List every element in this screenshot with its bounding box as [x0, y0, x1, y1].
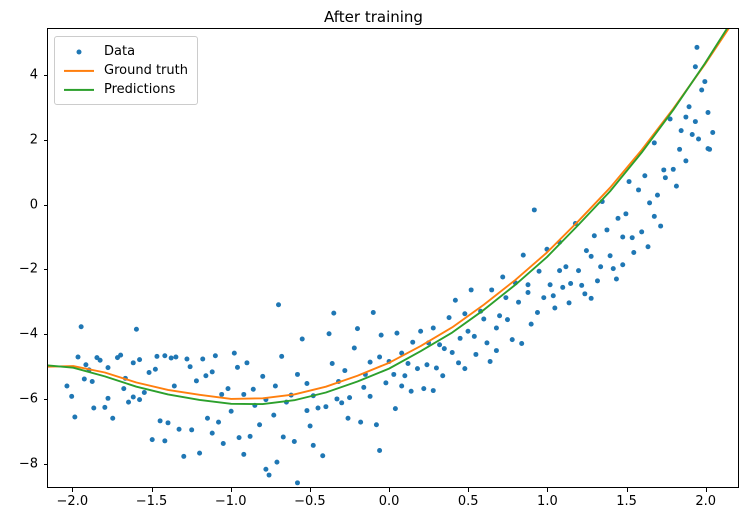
y-tick-label: 0: [30, 197, 38, 212]
data-point: [434, 365, 439, 370]
data-point: [316, 405, 321, 410]
data-point: [687, 104, 692, 109]
data-point: [620, 235, 625, 240]
data-point: [529, 322, 534, 327]
data-point: [334, 396, 339, 401]
data-point: [331, 311, 336, 316]
data-point: [683, 158, 688, 163]
data-point: [450, 350, 455, 355]
x-axis-tick-labels: −2.0−1.5−1.0−0.50.00.51.01.52.0: [0, 494, 747, 518]
data-point: [431, 388, 436, 393]
legend-entry-predictions: Predictions: [62, 80, 188, 99]
x-tick-label: 1.0: [537, 494, 558, 509]
data-point: [484, 340, 489, 345]
legend-marker-icon: [62, 45, 96, 59]
data-point: [169, 355, 174, 360]
data-point: [442, 346, 447, 351]
data-point: [327, 331, 332, 336]
data-point: [431, 326, 436, 331]
data-point: [368, 360, 373, 365]
data-point: [172, 384, 177, 389]
x-tick-label: 2.0: [695, 494, 716, 509]
data-point: [421, 386, 426, 391]
data-point: [98, 358, 103, 363]
data-point: [91, 405, 96, 410]
data-point: [579, 283, 584, 288]
data-point: [342, 368, 347, 373]
data-point: [456, 360, 461, 365]
data-point: [647, 200, 652, 205]
data-point: [541, 295, 546, 300]
data-point: [415, 366, 420, 371]
data-point: [560, 285, 565, 290]
data-point: [181, 454, 186, 459]
data-point: [205, 416, 210, 421]
data-point: [355, 326, 360, 331]
data-point: [589, 296, 594, 301]
data-point: [535, 310, 540, 315]
data-point: [377, 355, 382, 360]
legend-entry-ground-truth: Ground truth: [62, 61, 188, 80]
data-point: [589, 254, 594, 259]
data-point: [232, 351, 237, 356]
y-tick-label: −2: [19, 262, 38, 277]
data-point: [79, 324, 84, 329]
data-point: [361, 385, 366, 390]
data-point: [406, 361, 411, 366]
data-point: [699, 87, 704, 92]
data-point: [391, 372, 396, 377]
data-point: [679, 128, 684, 133]
data-point: [652, 214, 657, 219]
data-point: [642, 173, 647, 178]
data-point: [473, 352, 478, 357]
data-point: [458, 336, 463, 341]
data-point: [630, 235, 635, 240]
data-point: [346, 416, 351, 421]
x-tick-label: −1.5: [136, 494, 168, 509]
data-point: [194, 378, 199, 383]
data-point: [229, 409, 234, 414]
data-point: [237, 435, 242, 440]
data-point: [500, 275, 505, 280]
data-point: [614, 276, 619, 281]
data-point: [244, 360, 249, 365]
x-tick-mark: [706, 488, 707, 492]
data-point: [320, 453, 325, 458]
data-point: [368, 394, 373, 399]
data-point: [276, 302, 281, 307]
data-point: [106, 365, 111, 370]
data-point: [655, 193, 660, 198]
data-point: [131, 395, 136, 400]
data-point: [548, 282, 553, 287]
data-point: [595, 278, 600, 283]
data-point: [437, 342, 442, 347]
data-point: [300, 336, 305, 341]
data-point: [131, 360, 136, 365]
data-point: [106, 396, 111, 401]
data-point: [568, 281, 573, 286]
data-point: [418, 329, 423, 334]
data-point: [453, 298, 458, 303]
y-axis-tick-labels: 420−2−4−6−8: [0, 0, 38, 528]
data-point: [142, 390, 147, 395]
data-point: [410, 340, 415, 345]
data-point: [440, 373, 445, 378]
x-tick-label: −2.0: [57, 494, 89, 509]
y-tick-mark: [44, 75, 48, 76]
y-tick-mark: [44, 399, 48, 400]
data-point: [260, 374, 265, 379]
data-point: [304, 381, 309, 386]
data-point: [352, 345, 357, 350]
data-point: [690, 132, 695, 137]
data-point: [623, 211, 628, 216]
x-tick-mark: [72, 488, 73, 492]
data-point: [584, 248, 589, 253]
data-point: [235, 365, 240, 370]
data-point: [323, 404, 328, 409]
data-point: [409, 389, 414, 394]
legend-line-icon-ground-truth: [62, 64, 96, 78]
legend-entry-data: Data: [62, 42, 188, 61]
data-point: [257, 422, 262, 427]
data-point: [663, 175, 668, 180]
data-point: [646, 244, 651, 249]
x-tick-mark: [310, 488, 311, 492]
data-point: [661, 167, 666, 172]
data-point: [358, 420, 363, 425]
legend-line-icon-predictions: [62, 83, 96, 97]
data-point: [674, 184, 679, 189]
legend-label-ground-truth: Ground truth: [104, 63, 188, 78]
x-tick-label: −0.5: [294, 494, 326, 509]
data-point: [271, 413, 276, 418]
data-point: [710, 130, 715, 135]
data-point: [652, 140, 657, 145]
data-point: [519, 341, 524, 346]
data-point: [241, 452, 246, 457]
data-point: [693, 119, 698, 124]
data-point: [377, 448, 382, 453]
x-tick-mark: [547, 488, 548, 492]
data-point: [281, 435, 286, 440]
y-tick-label: 4: [30, 67, 38, 82]
data-point: [611, 266, 616, 271]
data-point: [639, 229, 644, 234]
data-point: [693, 64, 698, 69]
data-point: [241, 392, 246, 397]
data-point: [137, 357, 142, 362]
data-point: [592, 233, 597, 238]
data-point: [153, 367, 158, 372]
data-point: [118, 353, 123, 358]
data-point: [576, 268, 581, 273]
data-point: [557, 268, 562, 273]
data-point: [121, 386, 126, 391]
chart-legend: Data Ground truth Predictions: [54, 36, 198, 105]
data-point: [466, 329, 471, 334]
data-point: [567, 300, 572, 305]
data-point: [304, 408, 309, 413]
data-point: [383, 380, 388, 385]
data-point: [292, 439, 297, 444]
data-point: [462, 366, 467, 371]
legend-label-data: Data: [104, 44, 135, 59]
y-tick-label: −8: [19, 456, 38, 471]
data-point: [671, 167, 676, 172]
y-tick-mark: [44, 205, 48, 206]
y-tick-mark: [44, 140, 48, 141]
data-point: [702, 79, 707, 84]
data-point: [251, 387, 256, 392]
data-point: [90, 379, 95, 384]
y-tick-label: 2: [30, 132, 38, 147]
data-point: [563, 264, 568, 269]
matplotlib-figure: After training 420−2−4−6−8 −2.0−1.5−1.0−…: [0, 0, 747, 528]
data-point: [200, 356, 205, 361]
data-point: [551, 293, 556, 298]
data-point: [394, 331, 399, 336]
data-point: [537, 269, 542, 274]
data-point: [64, 384, 69, 389]
x-tick-mark: [231, 488, 232, 492]
data-point: [216, 420, 221, 425]
data-point: [110, 416, 115, 421]
data-point: [248, 434, 253, 439]
x-tick-mark: [468, 488, 469, 492]
scatter-points-layer: [64, 45, 715, 485]
data-point: [274, 460, 279, 465]
data-point: [82, 376, 87, 381]
data-point: [627, 179, 632, 184]
data-point: [295, 480, 300, 485]
x-tick-label: 0.5: [458, 494, 479, 509]
y-tick-mark: [44, 269, 48, 270]
data-point: [488, 359, 493, 364]
data-point: [279, 354, 284, 359]
data-point: [516, 300, 521, 305]
data-point: [126, 400, 131, 405]
data-point: [469, 287, 474, 292]
data-point: [69, 394, 74, 399]
data-point: [532, 207, 537, 212]
data-point: [481, 316, 486, 321]
data-point: [636, 187, 641, 192]
data-point: [706, 110, 711, 115]
x-tick-label: 1.5: [616, 494, 637, 509]
data-point: [189, 427, 194, 432]
y-tick-mark: [44, 334, 48, 335]
data-point: [447, 315, 452, 320]
data-point: [399, 384, 404, 389]
x-tick-mark: [627, 488, 628, 492]
data-point: [393, 406, 398, 411]
data-point: [184, 356, 189, 361]
data-point: [221, 441, 226, 446]
data-point: [147, 370, 152, 375]
legend-label-predictions: Predictions: [104, 82, 175, 97]
data-point: [472, 334, 477, 339]
data-point: [620, 262, 625, 267]
data-point: [137, 397, 142, 402]
data-point: [494, 348, 499, 353]
data-point: [311, 443, 316, 448]
data-point: [213, 353, 218, 358]
data-point: [683, 115, 688, 120]
data-point: [608, 253, 613, 258]
data-point: [694, 45, 699, 50]
data-point: [347, 395, 352, 400]
x-tick-mark: [389, 488, 390, 492]
data-point: [177, 427, 182, 432]
data-point: [102, 405, 107, 410]
data-point: [707, 147, 712, 152]
data-point: [371, 310, 376, 315]
data-point: [598, 264, 603, 269]
data-point: [83, 362, 88, 367]
data-point: [497, 313, 502, 318]
data-point: [616, 216, 621, 221]
data-point: [526, 282, 531, 287]
data-point: [631, 250, 636, 255]
data-point: [308, 424, 313, 429]
data-point: [263, 467, 268, 472]
data-point: [76, 355, 81, 360]
data-point: [162, 438, 167, 443]
data-point: [173, 355, 178, 360]
data-point: [503, 295, 508, 300]
data-point: [582, 291, 587, 296]
data-point: [374, 422, 379, 427]
data-point: [197, 451, 202, 456]
data-point: [72, 415, 77, 420]
data-point: [339, 400, 344, 405]
data-point: [604, 227, 609, 232]
data-point: [295, 372, 300, 377]
data-point: [379, 333, 384, 338]
data-point: [210, 369, 215, 374]
y-tick-label: −4: [19, 327, 38, 342]
data-point: [494, 326, 499, 331]
data-point: [402, 373, 407, 378]
y-tick-mark: [44, 464, 48, 465]
data-point: [526, 290, 531, 295]
data-point: [521, 253, 526, 258]
data-point: [677, 147, 682, 152]
data-point: [134, 327, 139, 332]
data-point: [226, 386, 231, 391]
data-point: [162, 353, 167, 358]
data-point: [658, 224, 663, 229]
data-point: [188, 364, 193, 369]
data-point: [510, 337, 515, 342]
data-point: [489, 287, 494, 292]
data-point: [552, 306, 557, 311]
data-point: [505, 317, 510, 322]
data-point: [267, 473, 272, 478]
data-point: [203, 373, 208, 378]
data-point: [696, 136, 701, 141]
x-tick-mark: [152, 488, 153, 492]
data-point: [424, 362, 429, 367]
data-point: [158, 418, 163, 423]
chart-title: After training: [0, 8, 747, 26]
y-tick-label: −6: [19, 391, 38, 406]
data-point: [330, 361, 335, 366]
data-point: [210, 431, 215, 436]
x-tick-label: 0.0: [379, 494, 400, 509]
data-point: [166, 420, 171, 425]
x-tick-label: −1.0: [215, 494, 247, 509]
data-point: [273, 384, 278, 389]
data-point: [462, 311, 467, 316]
data-point: [219, 392, 224, 397]
data-point: [150, 437, 155, 442]
data-point: [154, 354, 159, 359]
